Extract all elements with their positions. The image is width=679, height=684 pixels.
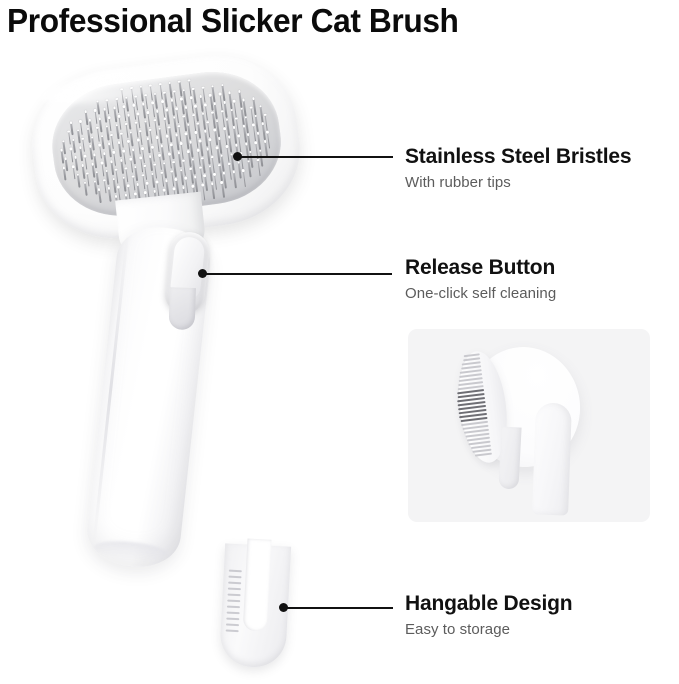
page-title: Professional Slicker Cat Brush	[7, 2, 459, 40]
leader-stroke-hangable	[283, 607, 393, 609]
callout-hangable-design-title: Hangable Design	[405, 593, 572, 615]
callout-bristles-title: Stainless Steel Bristles	[405, 146, 631, 168]
brush-head-shell	[23, 45, 309, 248]
callout-release-button-title: Release Button	[405, 257, 556, 279]
handle-bottom-shade	[93, 538, 170, 564]
hanging-loop-ribs	[226, 570, 244, 635]
head-highlight	[40, 66, 182, 110]
callout-hangable-design-subtitle: Easy to storage	[405, 622, 572, 639]
bristle-pin-field	[50, 68, 283, 219]
brush-neck	[115, 192, 207, 261]
callout-release-button-subtitle: One-click self cleaning	[405, 286, 556, 303]
handle-edge-highlight	[92, 234, 129, 544]
callout-hangable-design: Hangable Design Easy to storage	[405, 593, 572, 639]
bristle-pad	[45, 64, 288, 225]
release-button-tab	[169, 287, 196, 330]
inset-handle	[532, 402, 572, 515]
brush-head	[23, 45, 309, 248]
inset-photo-panel	[408, 329, 650, 522]
hanging-loop-opening	[243, 539, 272, 632]
callout-release-button: Release Button One-click self cleaning	[405, 257, 556, 303]
leader-stroke-bristles	[237, 156, 393, 158]
callout-bristles-subtitle: With rubber tips	[405, 175, 631, 192]
inset-hanging-loop	[498, 427, 521, 490]
callout-bristles: Stainless Steel Bristles With rubber tip…	[405, 146, 631, 192]
leader-stroke-release-button	[202, 273, 392, 275]
brush-handle	[84, 223, 214, 571]
